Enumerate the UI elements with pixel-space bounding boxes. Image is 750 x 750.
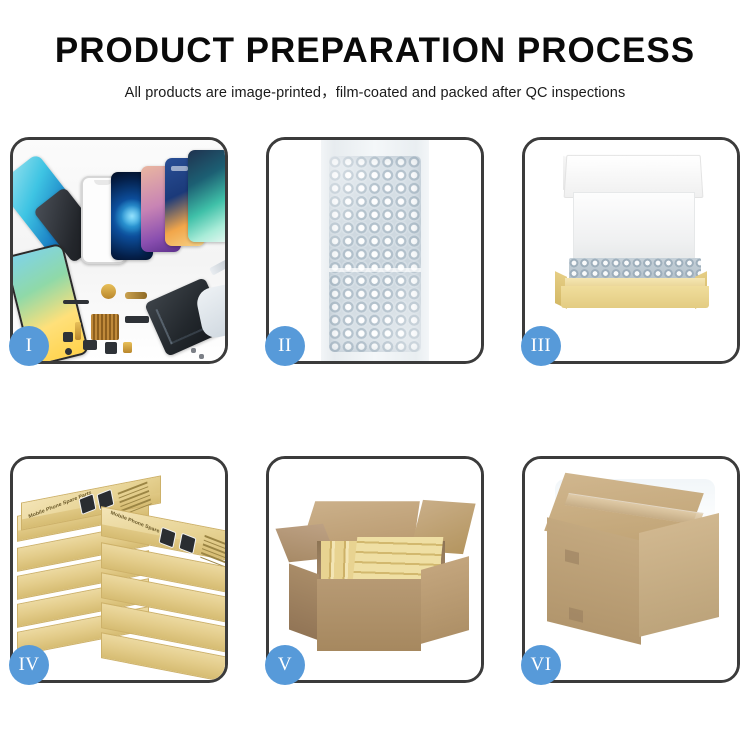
page-title: PRODUCT PREPARATION PROCESS: [0, 33, 750, 68]
step-badge-6: VI: [521, 645, 561, 685]
header: PRODUCT PREPARATION PROCESS All products…: [0, 0, 750, 102]
part-chip-grid: [91, 314, 119, 340]
step-2-image: [269, 140, 481, 361]
process-steps-grid: I II III: [10, 137, 740, 685]
part-screw-small-2: [199, 354, 204, 359]
step-panel-6: VI: [522, 456, 740, 683]
step-panel-3: III: [522, 137, 740, 364]
part-speaker-round: [101, 284, 116, 299]
step-3-image: [525, 140, 737, 361]
foam-insert: [573, 192, 695, 260]
retail-box-stack: Mobile Phone Spare Parts Mobile Phone Sp…: [13, 459, 225, 680]
step-panel-4: Mobile Phone Spare Parts Mobile Phone Sp…: [10, 456, 228, 683]
part-camera-module: [83, 340, 97, 350]
step-panel-5: V: [266, 456, 484, 683]
carton-front-panel: [317, 579, 421, 651]
part-bracket-gold: [75, 322, 81, 340]
carton-side-left: [289, 564, 319, 641]
sealed-carton-front: [547, 517, 641, 644]
part-screw: [65, 348, 72, 355]
step-badge-3: III: [521, 326, 561, 366]
mailer-front-panel: [561, 286, 709, 308]
phone-screen-teal-wave: [188, 150, 225, 242]
bubble-wrap-sheen: [329, 156, 421, 352]
step-1-image: [13, 140, 225, 361]
product-preparation-infographic: PRODUCT PREPARATION PROCESS All products…: [0, 0, 750, 750]
sealed-carton-side: [639, 513, 719, 637]
part-sim-tray: [123, 342, 132, 353]
step-5-image: [269, 459, 481, 680]
part-connector-gold: [125, 292, 147, 299]
part-flex-strip: [63, 300, 89, 304]
step-4-image: Mobile Phone Spare Parts Mobile Phone Sp…: [13, 459, 225, 680]
step-panel-1: I: [10, 137, 228, 364]
step-badge-5: V: [265, 645, 305, 685]
bubble-wrap-seam: [329, 268, 421, 272]
step-badge-2: II: [265, 326, 305, 366]
part-vibrator: [105, 342, 117, 354]
step-panel-2: II: [266, 137, 484, 364]
part-cable-dark: [125, 316, 149, 323]
step-6-image: [525, 459, 737, 680]
step-badge-1: I: [9, 326, 49, 366]
carton-side-right: [421, 556, 469, 644]
part-button-dark: [63, 332, 73, 342]
part-screw-small: [191, 348, 196, 353]
step-badge-4: IV: [9, 645, 49, 685]
page-subtitle: All products are image-printed，film-coat…: [0, 81, 750, 102]
